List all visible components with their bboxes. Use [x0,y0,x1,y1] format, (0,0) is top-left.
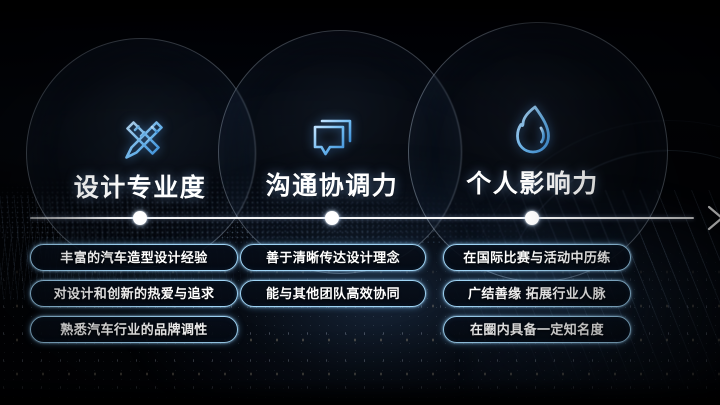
list-item[interactable]: 熟悉汽车行业的品牌调性 [30,316,238,343]
list-item[interactable]: 在国际比赛与活动中历练 [443,244,631,271]
list-item[interactable]: 丰富的汽车造型设计经验 [30,244,238,271]
list-item[interactable]: 广结善缘 拓展行业人脉 [443,280,631,307]
flame-icon [425,100,640,158]
section-title-2: 沟通协调力 [232,166,432,202]
section-items-2: 善于清晰传达设计理念 能与其他团队高效协同 [240,244,426,307]
section-items-1: 丰富的汽车造型设计经验 对设计和创新的热爱与追求 熟悉汽车行业的品牌调性 [30,244,238,343]
bottom-edge-fade [0,379,720,405]
slide-canvas: 设计专业度 丰富的汽车造型设计经验 对设计和创新的热爱与追求 熟悉汽车行业的品牌… [0,0,720,405]
section-title-1: 设计专业度 [40,168,240,204]
timeline-line [30,217,694,219]
pen-ruler-icon [40,110,240,168]
list-item[interactable]: 对设计和创新的热爱与追求 [30,280,238,307]
list-item[interactable]: 在圈内具备一定知名度 [443,316,631,343]
progress-timeline [0,211,720,227]
timeline-dot-1[interactable] [133,211,147,225]
list-item[interactable]: 善于清晰传达设计理念 [240,244,426,271]
chat-bubbles-icon [232,106,432,164]
timeline-dot-2[interactable] [325,211,339,225]
timeline-dot-3[interactable] [525,211,539,225]
section-title-3: 个人影响力 [425,164,640,200]
section-items-3: 在国际比赛与活动中历练 广结善缘 拓展行业人脉 在圈内具备一定知名度 [443,244,631,343]
list-item[interactable]: 能与其他团队高效协同 [240,280,426,307]
top-edge-fade [0,0,720,30]
